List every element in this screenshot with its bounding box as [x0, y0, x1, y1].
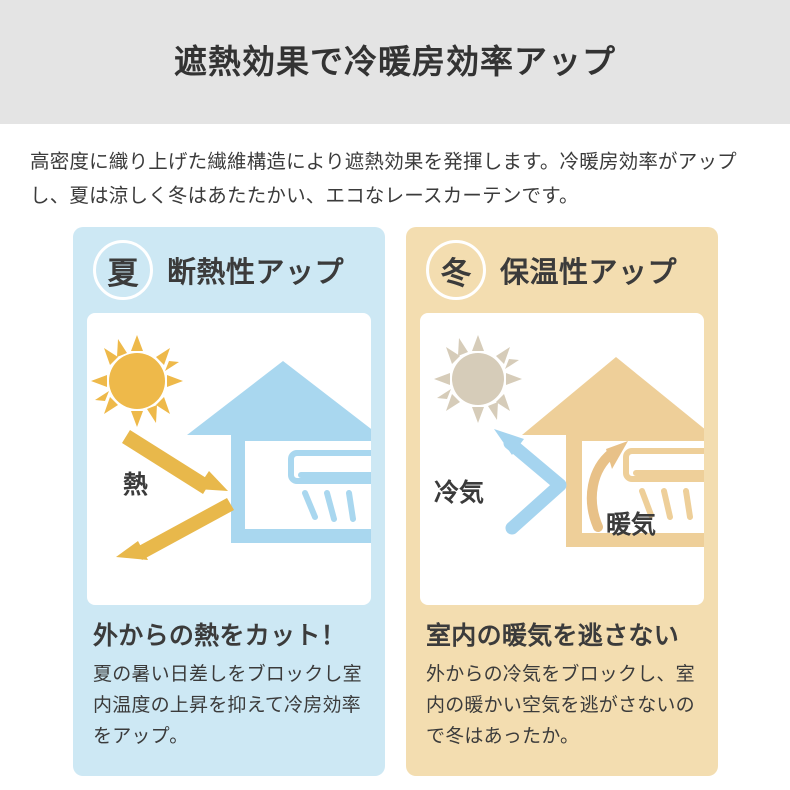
card-summer-foot-body: 夏の暑い日差しをブロックし室内温度の上昇を抑えて冷房効率をアップ。 — [93, 660, 365, 752]
air-conditioner-icon — [291, 453, 371, 481]
card-winter: 冬 保温性アップ — [406, 227, 718, 776]
cold-air-arrow — [510, 443, 560, 528]
card-winter-title: 保温性アップ — [500, 249, 677, 291]
card-summer-title: 断熱性アップ — [167, 249, 344, 291]
label-cold-air: 冷気 — [434, 478, 484, 507]
label-heat: 熱 — [123, 471, 148, 499]
illustration-winter: 冷気 暖気 — [420, 313, 704, 605]
illustration-summer: 熱 — [87, 313, 371, 605]
card-summer-foot-heading: 外からの熱をカット！ — [93, 621, 365, 652]
header-band: 遮熱効果で冷暖房効率アップ — [0, 0, 790, 124]
card-winter-footer: 室内の暖気を逃さない 外からの冷気をブロックし、室内の暖かい空気を逃がさないので… — [406, 605, 718, 753]
page-title: 遮熱効果で冷暖房効率アップ — [174, 42, 616, 82]
sun-icon — [91, 335, 183, 427]
card-winter-foot-body: 外からの冷気をブロックし、室内の暖かい空気を逃がさないので冬はあったか。 — [426, 660, 698, 752]
intro-paragraph: 高密度に織り上げた繊維構造により遮熱効果を発揮します。冷暖房効率がアップし、夏は… — [30, 146, 760, 213]
card-summer-header: 夏 断熱性アップ — [73, 227, 385, 313]
season-badge-winter: 冬 — [426, 240, 486, 300]
air-conditioner-icon — [626, 451, 704, 479]
card-summer-footer: 外からの熱をカット！ 夏の暑い日差しをブロックし室内温度の上昇を抑えて冷房効率を… — [73, 605, 385, 753]
season-cards: 夏 断熱性アップ — [73, 227, 718, 776]
season-badge-summer: 夏 — [93, 240, 153, 300]
label-warm-air: 暖気 — [606, 510, 656, 539]
card-winter-header: 冬 保温性アップ — [406, 227, 718, 313]
card-winter-foot-heading: 室内の暖気を逃さない — [426, 621, 698, 652]
card-summer: 夏 断熱性アップ — [73, 227, 385, 776]
infographic-page: 遮熱効果で冷暖房効率アップ 高密度に織り上げた繊維構造により遮熱効果を発揮します… — [0, 0, 790, 790]
airflow-lines — [305, 493, 353, 519]
sun-icon-muted — [434, 335, 522, 423]
